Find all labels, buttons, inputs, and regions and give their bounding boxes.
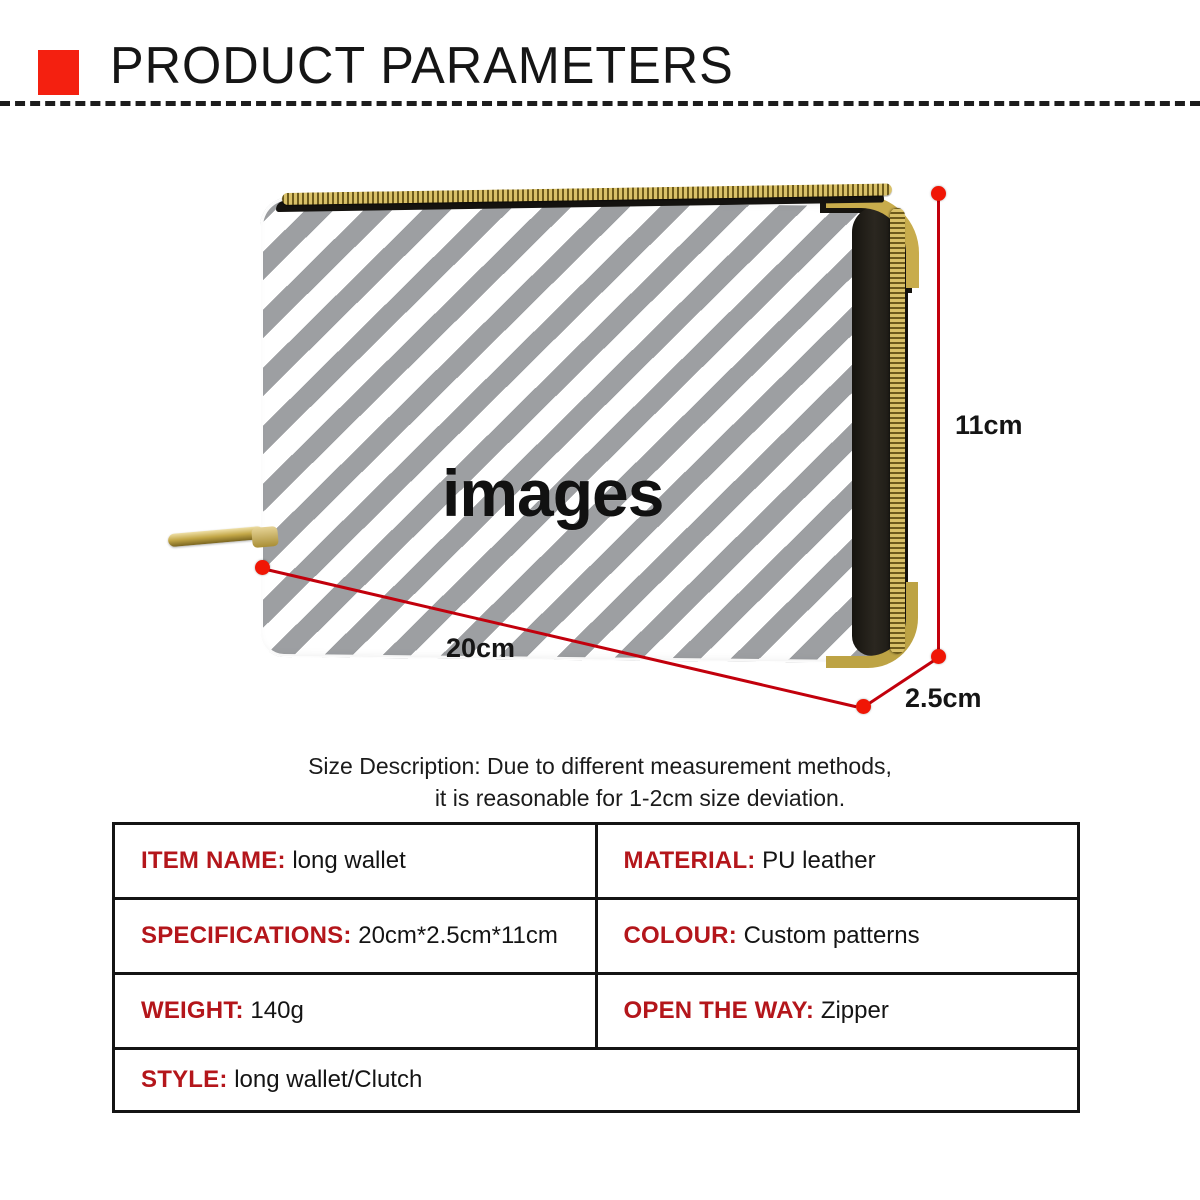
height-dimension-label: 11cm — [955, 410, 1023, 441]
size-description-text: Size Description: Due to different measu… — [0, 750, 1200, 814]
spec-label: OPEN THE WAY: — [624, 997, 815, 1024]
page-header: PRODUCT PARAMETERS — [0, 0, 1200, 110]
size-description-line-2: it is reasonable for 1-2cm size deviatio… — [0, 782, 1200, 814]
table-row: SPECIFICATIONS: 20cm*2.5cm*11cm COLOUR: … — [114, 899, 1079, 974]
height-dimension-line — [937, 195, 940, 657]
spec-value: long wallet/Clutch — [234, 1066, 422, 1093]
spec-label: COLOUR: — [624, 922, 737, 949]
table-row: STYLE: long wallet/Clutch — [114, 1049, 1079, 1112]
watermark-text: images — [442, 455, 663, 531]
spec-label: MATERIAL: — [624, 847, 756, 874]
table-row: ITEM NAME: long wallet MATERIAL: PU leat… — [114, 824, 1079, 899]
spec-cell-specifications: SPECIFICATIONS: 20cm*2.5cm*11cm — [114, 899, 597, 974]
spec-value: 20cm*2.5cm*11cm — [358, 922, 558, 949]
wallet-striped-front-panel — [260, 197, 880, 663]
spec-value: Zipper — [821, 997, 889, 1024]
spec-value: 140g — [250, 997, 303, 1024]
spec-cell-weight: WEIGHT: 140g — [114, 974, 597, 1049]
product-figure: images 11cm 20cm 2.5cm Size Description:… — [0, 110, 1200, 825]
height-dimension-dot-top — [931, 186, 946, 201]
spec-value: long wallet — [292, 847, 405, 874]
spec-label: SPECIFICATIONS: — [141, 922, 352, 949]
zipper-pull-tab-icon — [168, 526, 265, 547]
depth-dimension-label: 2.5cm — [905, 683, 982, 714]
spec-label: WEIGHT: — [141, 997, 244, 1024]
size-description-line-1: Size Description: Due to different measu… — [308, 753, 892, 779]
spec-cell-open-the-way: OPEN THE WAY: Zipper — [596, 974, 1079, 1049]
spec-label: ITEM NAME: — [141, 847, 286, 874]
table-row: WEIGHT: 140g OPEN THE WAY: Zipper — [114, 974, 1079, 1049]
width-dimension-label: 20cm — [446, 633, 515, 664]
spec-cell-item-name: ITEM NAME: long wallet — [114, 824, 597, 899]
width-dimension-dot-right — [856, 699, 871, 714]
header-red-square-marker — [38, 50, 79, 95]
header-dashed-divider — [0, 101, 1200, 106]
zipper-right-icon — [890, 208, 905, 654]
spec-cell-colour: COLOUR: Custom patterns — [596, 899, 1079, 974]
spec-label: STYLE: — [141, 1066, 228, 1093]
wallet-front-shading — [260, 197, 880, 663]
width-dimension-dot-left — [255, 560, 270, 575]
spec-value: Custom patterns — [744, 922, 920, 949]
zipper-top-right-curve-icon — [826, 195, 919, 288]
spec-cell-style: STYLE: long wallet/Clutch — [114, 1049, 1079, 1112]
height-dimension-dot-bottom — [931, 649, 946, 664]
page-title: PRODUCT PARAMETERS — [110, 36, 734, 96]
spec-cell-material: MATERIAL: PU leather — [596, 824, 1079, 899]
product-specifications-table: ITEM NAME: long wallet MATERIAL: PU leat… — [112, 822, 1080, 1113]
spec-value: PU leather — [762, 847, 875, 874]
zipper-pull-head-icon — [251, 526, 279, 548]
